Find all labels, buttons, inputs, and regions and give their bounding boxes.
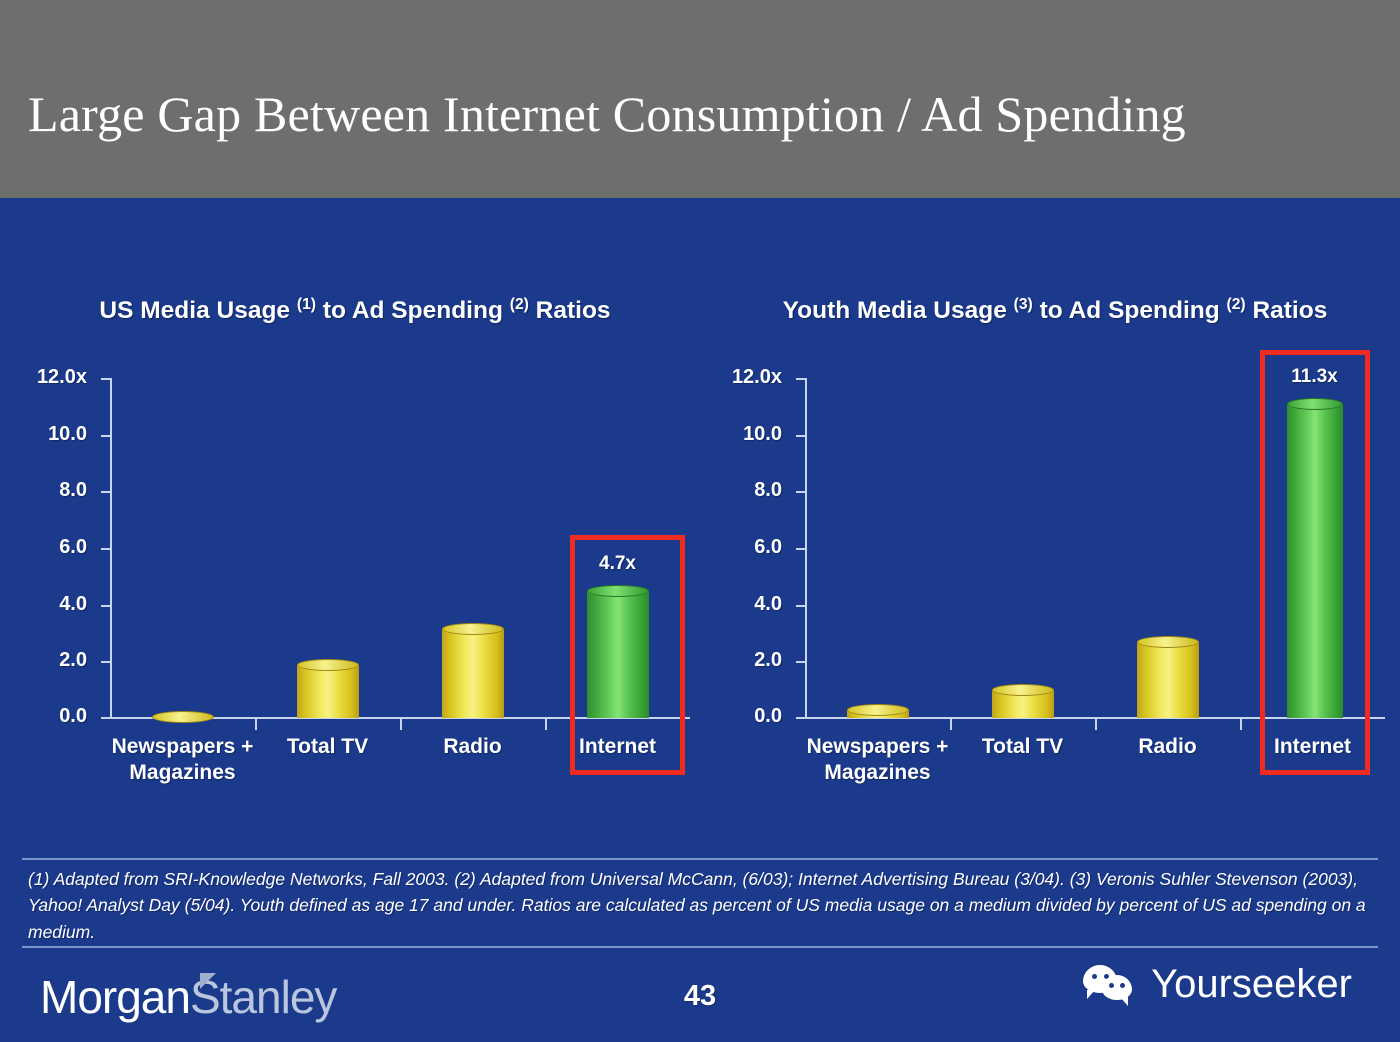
chart-title-footnote-ref-3: (3)	[1014, 296, 1033, 313]
bar-body	[297, 665, 359, 719]
chart-title-segment-b: to Ad Spending	[1033, 297, 1227, 324]
highlight-box-internet	[570, 535, 685, 775]
page-number: 43	[650, 980, 750, 1013]
wechat-icon	[1083, 965, 1137, 1005]
footnote-divider-bottom	[22, 946, 1378, 948]
y-tick-label-6: 6.0	[754, 536, 782, 559]
y-tick-label-4: 4.0	[59, 593, 87, 616]
chart-title-youth-media-usage: Youth Media Usage (3) to Ad Spending (2)…	[710, 293, 1400, 329]
chart-us-media-usage: US Media Usage (1) to Ad Spending (2) Ra…	[0, 198, 710, 838]
bar-total-tv	[297, 659, 359, 719]
bar-body	[1137, 642, 1199, 718]
logo-text-morgan: Morgan	[40, 971, 190, 1023]
watermark-label: Yourseeker	[1151, 962, 1352, 1007]
y-tick-8: 8.0	[101, 491, 112, 493]
chart-title-segment-c: Ratios	[529, 297, 611, 324]
y-tick-4: 4.0	[101, 605, 112, 607]
morgan-stanley-logo: MorganStanley	[40, 970, 336, 1024]
y-tick-label-8: 8.0	[754, 479, 782, 502]
y-tick-2: 2.0	[101, 661, 112, 663]
slide-body: US Media Usage (1) to Ad Spending (2) Ra…	[0, 198, 1400, 1042]
y-tick-label-12: 12.0x	[732, 366, 782, 389]
chart-title-footnote-ref-2: (2)	[1226, 296, 1245, 313]
y-tick-6: 6.0	[796, 548, 807, 550]
y-tick-10: 10.0	[101, 435, 112, 437]
y-tick-12: 12.0x	[101, 378, 112, 380]
highlight-box-internet	[1260, 350, 1370, 775]
y-tick-label-2: 2.0	[59, 649, 87, 672]
y-tick-label-4: 4.0	[754, 593, 782, 616]
x-tick-1	[255, 719, 257, 730]
chart-title-segment-a: Youth Media Usage	[783, 297, 1014, 324]
y-tick-4: 4.0	[796, 605, 807, 607]
x-tick-2	[1095, 719, 1097, 730]
footnote-text: (1) Adapted from SRI-Knowledge Networks,…	[28, 866, 1374, 945]
x-tick-2	[400, 719, 402, 730]
bar-cap	[442, 623, 504, 635]
x-tick-1	[950, 719, 952, 730]
y-tick-label-8: 8.0	[59, 479, 87, 502]
bubble-eye	[1109, 983, 1114, 988]
bar-radio	[1137, 636, 1199, 718]
page-title: Large Gap Between Internet Consumption /…	[28, 88, 1378, 141]
bar-total-tv	[992, 684, 1054, 718]
slide-footer: MorganStanley 43 Yourseeker	[0, 958, 1400, 1042]
speech-bubble-small	[1102, 975, 1132, 1000]
y-tick-2: 2.0	[796, 661, 807, 663]
y-tick-10: 10.0	[796, 435, 807, 437]
chart-title-segment-a: US Media Usage	[99, 297, 296, 324]
chart-youth-media-usage: Youth Media Usage (3) to Ad Spending (2)…	[710, 198, 1400, 838]
chart-title-us-media-usage: US Media Usage (1) to Ad Spending (2) Ra…	[0, 293, 710, 329]
bar-cap	[847, 704, 909, 716]
y-tick-label-0: 0.0	[754, 705, 782, 728]
bar-cap	[992, 684, 1054, 696]
y-tick-label-2: 2.0	[754, 649, 782, 672]
bubble-eye	[1092, 974, 1097, 979]
y-tick-label-6: 6.0	[59, 536, 87, 559]
x-tick-3	[545, 719, 547, 730]
bar-newspapers-magazines	[152, 711, 214, 718]
y-tick-0: 0.0	[101, 717, 112, 719]
morgan-stanley-triangle-icon	[200, 973, 216, 989]
bar-radio	[442, 623, 504, 718]
chart-title-segment-c: Ratios	[1246, 297, 1328, 324]
y-tick-6: 6.0	[101, 548, 112, 550]
y-tick-label-10: 10.0	[743, 423, 782, 446]
y-tick-12: 12.0x	[796, 378, 807, 380]
bubble-eye	[1120, 983, 1125, 988]
y-tick-label-10: 10.0	[48, 423, 87, 446]
footnote-divider-top	[22, 858, 1378, 860]
slide-canvas: Large Gap Between Internet Consumption /…	[0, 0, 1400, 1042]
x-tick-3	[1240, 719, 1242, 730]
bar-cap	[1137, 636, 1199, 648]
chart-title-footnote-ref-2: (2)	[510, 296, 529, 313]
bar-cap	[152, 711, 214, 723]
y-tick-0: 0.0	[796, 717, 807, 719]
chart-title-footnote-ref-1: (1)	[297, 296, 316, 313]
y-tick-8: 8.0	[796, 491, 807, 493]
y-tick-label-0: 0.0	[59, 705, 87, 728]
bar-body	[442, 629, 504, 718]
yourseeker-watermark: Yourseeker	[1083, 962, 1352, 1007]
chart-title-segment-b: to Ad Spending	[316, 297, 510, 324]
y-tick-label-12: 12.0x	[37, 366, 87, 389]
bar-newspapers-magazines	[847, 704, 909, 718]
bar-cap	[297, 659, 359, 671]
